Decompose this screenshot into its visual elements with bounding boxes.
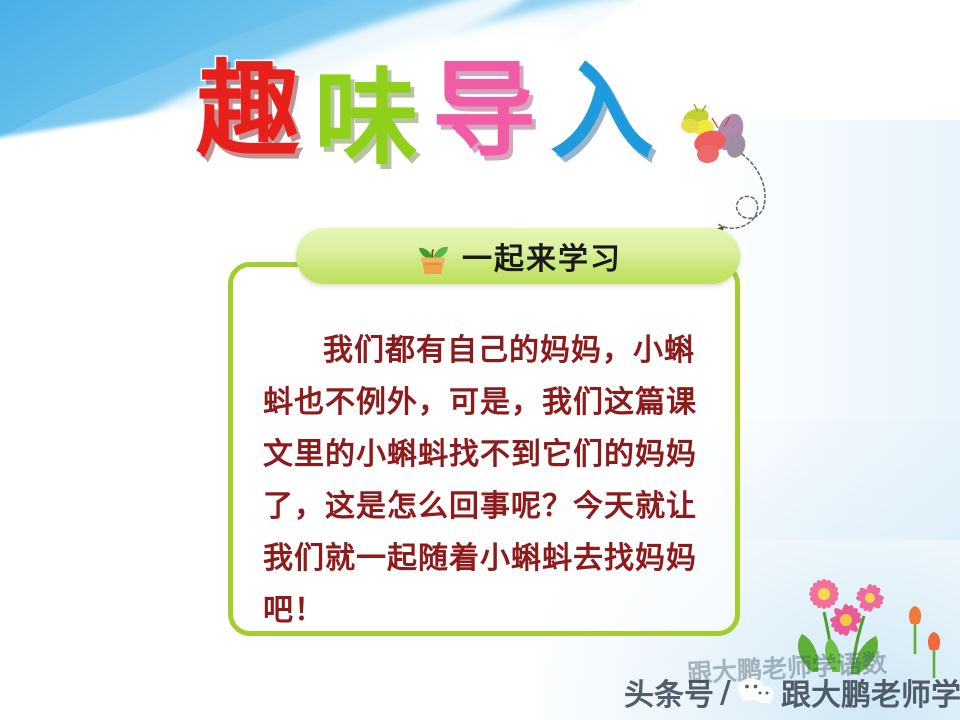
footer-separator: / bbox=[720, 675, 731, 710]
title-char-4: 入 bbox=[550, 60, 654, 164]
flower-blossom-1 bbox=[808, 578, 840, 610]
title-char-3: 导 bbox=[432, 58, 536, 162]
page-title: 趣 味 导 入 bbox=[196, 58, 654, 170]
footer-account-label: 跟大鹏老师学语数 bbox=[781, 670, 960, 714]
lesson-body-text: 我们都有自己的妈妈，小蝌蚪也不例外，可是，我们这篇课文里的小蝌蚪找不到它们的妈妈… bbox=[263, 325, 711, 637]
wechat-icon bbox=[737, 675, 775, 709]
slide-canvas: 趣 味 导 入 bbox=[0, 0, 960, 720]
footer-credit: 头条号 / 跟大鹏老师学语数 bbox=[624, 670, 960, 714]
butterfly-decoration bbox=[672, 96, 792, 248]
footer-platform-label: 头条号 bbox=[624, 670, 714, 714]
title-char-2: 味 bbox=[314, 66, 418, 170]
flower-blossom-2 bbox=[855, 583, 884, 612]
footer-bar: 跟大鹏老师学语数 头条号 / 跟大鹏老师学语数 bbox=[0, 656, 960, 720]
butterfly-pair-icon bbox=[672, 96, 792, 248]
section-banner: 一起来学习 bbox=[296, 228, 740, 284]
content-card: 我们都有自己的妈妈，小蝌蚪也不例外，可是，我们这篇课文里的小蝌蚪找不到它们的妈妈… bbox=[228, 262, 740, 636]
flower-tulip-1 bbox=[909, 606, 921, 654]
section-banner-label: 一起来学习 bbox=[462, 234, 622, 278]
potted-plant-icon bbox=[414, 236, 452, 276]
title-char-1: 趣 bbox=[196, 58, 300, 162]
flower-blossom-3 bbox=[829, 603, 862, 636]
